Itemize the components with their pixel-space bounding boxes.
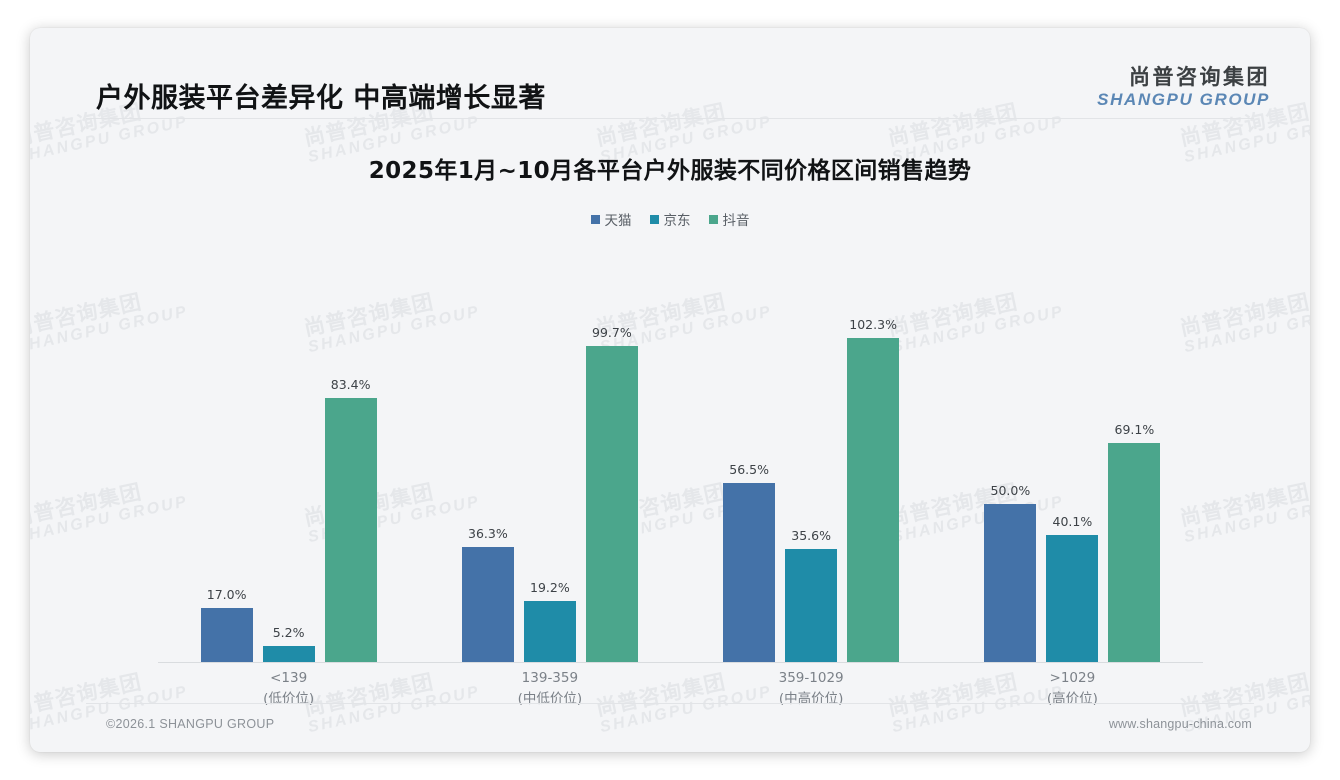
bar-group: 36.3%19.2%99.7%: [419, 243, 680, 662]
bar-rect[interactable]: [785, 549, 837, 662]
bar-value-label: 56.5%: [729, 462, 769, 477]
x-axis-tick-range: 359-1029: [779, 670, 844, 686]
bar-rect[interactable]: [524, 601, 576, 662]
bar-column-天猫[interactable]: 50.0%: [984, 483, 1036, 662]
legend-label: 天猫: [605, 209, 632, 229]
legend-label: 抖音: [723, 209, 750, 229]
bar-rect[interactable]: [723, 483, 775, 662]
bar-value-label: 83.4%: [331, 377, 371, 392]
bar-value-label: 19.2%: [530, 580, 570, 595]
bar-column-京东[interactable]: 35.6%: [785, 528, 837, 662]
bar-rect[interactable]: [847, 338, 899, 662]
legend-label: 京东: [664, 209, 691, 229]
bar-rect[interactable]: [325, 398, 377, 662]
bar-column-天猫[interactable]: 17.0%: [201, 587, 253, 662]
header-divider: [86, 118, 1254, 119]
bars-wrap: 17.0%5.2%83.4%36.3%19.2%99.7%56.5%35.6%1…: [158, 243, 1203, 662]
plot-area: 17.0%5.2%83.4%36.3%19.2%99.7%56.5%35.6%1…: [158, 243, 1203, 663]
x-axis-tick-range: 139-359: [522, 670, 578, 686]
bar-value-label: 17.0%: [207, 587, 247, 602]
bar-column-天猫[interactable]: 56.5%: [723, 462, 775, 662]
bar-group: 17.0%5.2%83.4%: [158, 243, 419, 662]
x-axis-line: [158, 662, 1203, 663]
bar-value-label: 50.0%: [991, 483, 1031, 498]
chart-title: 2025年1月~10月各平台户外服装不同价格区间销售趋势: [30, 151, 1310, 185]
bar-value-label: 36.3%: [468, 526, 508, 541]
x-axis-tick-range: <139: [270, 670, 307, 686]
bar-value-label: 35.6%: [791, 528, 831, 543]
bar-value-label: 102.3%: [849, 317, 897, 332]
bar-group: 50.0%40.1%69.1%: [942, 243, 1203, 662]
legend-item-抖音[interactable]: 抖音: [709, 209, 750, 229]
bar-column-抖音[interactable]: 102.3%: [847, 317, 899, 662]
bar-column-京东[interactable]: 40.1%: [1046, 514, 1098, 662]
bar-value-label: 5.2%: [273, 625, 305, 640]
bar-rect[interactable]: [201, 608, 253, 662]
bar-rect[interactable]: [1046, 535, 1098, 662]
legend-swatch-icon: [591, 215, 600, 224]
bar-column-京东[interactable]: 5.2%: [263, 625, 315, 662]
bar-rect[interactable]: [586, 346, 638, 662]
bar-column-抖音[interactable]: 69.1%: [1108, 422, 1160, 662]
legend-item-京东[interactable]: 京东: [650, 209, 691, 229]
slide-card: 尚普咨询集团SHANGPU GROUP尚普咨询集团SHANGPU GROUP尚普…: [30, 28, 1310, 752]
legend-item-天猫[interactable]: 天猫: [591, 209, 632, 229]
bar-rect[interactable]: [1108, 443, 1160, 662]
slide-header: 户外服装平台差异化 中高端增长显著 尚普咨询集团 SHANGPU GROUP: [30, 28, 1310, 118]
bar-column-抖音[interactable]: 99.7%: [586, 325, 638, 662]
bar-column-天猫[interactable]: 36.3%: [462, 526, 514, 662]
x-axis-tick-range: >1029: [1050, 670, 1096, 686]
brand-logo: 尚普咨询集团 SHANGPU GROUP: [1097, 65, 1270, 111]
chart-legend: 天猫京东抖音: [30, 209, 1310, 229]
slide-footer: ©2026.1 SHANGPU GROUP www.shangpu-china.…: [30, 704, 1310, 752]
brand-logo-cn: 尚普咨询集团: [1097, 65, 1270, 89]
footer-copyright: ©2026.1 SHANGPU GROUP: [106, 717, 274, 731]
bar-value-label: 40.1%: [1053, 514, 1093, 529]
bar-column-抖音[interactable]: 83.4%: [325, 377, 377, 662]
bar-column-京东[interactable]: 19.2%: [524, 580, 576, 662]
bar-rect[interactable]: [263, 646, 315, 662]
bar-value-label: 99.7%: [592, 325, 632, 340]
bar-group: 56.5%35.6%102.3%: [681, 243, 942, 662]
brand-logo-en: SHANGPU GROUP: [1097, 90, 1270, 110]
bar-rect[interactable]: [462, 547, 514, 662]
bar-rect[interactable]: [984, 504, 1036, 662]
page-title: 户外服装平台差异化 中高端增长显著: [96, 76, 546, 115]
legend-swatch-icon: [650, 215, 659, 224]
chart-region: 2025年1月~10月各平台户外服装不同价格区间销售趋势 天猫京东抖音 17.0…: [30, 123, 1310, 693]
legend-swatch-icon: [709, 215, 718, 224]
bar-value-label: 69.1%: [1115, 422, 1155, 437]
footer-website[interactable]: www.shangpu-china.com: [1109, 717, 1252, 731]
